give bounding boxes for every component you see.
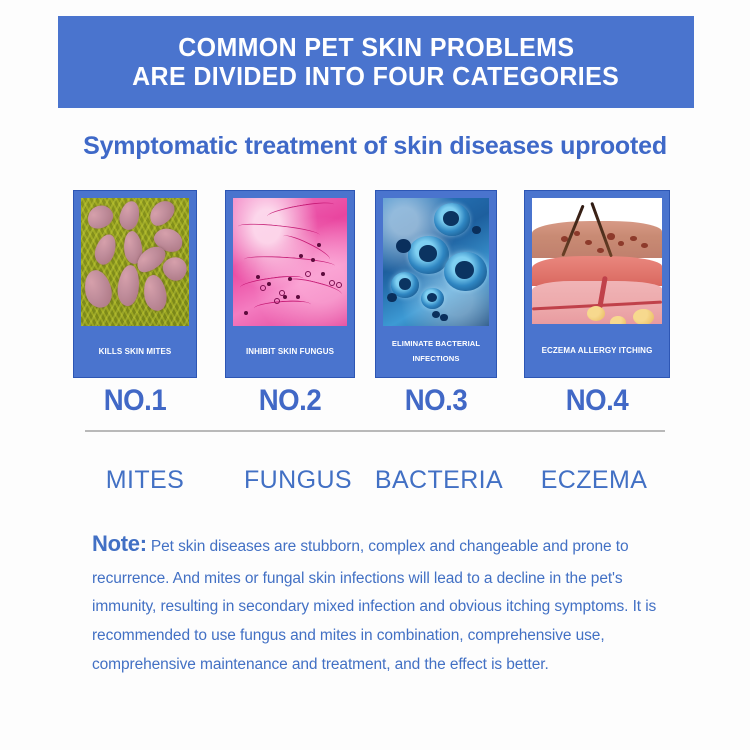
category-card-eczema[interactable]: ECZEMA ALLERGY ITCHING (524, 190, 670, 378)
category-card-fungus[interactable]: INHIBIT SKIN FUNGUS (225, 190, 355, 378)
bacteria-artwork (383, 198, 489, 326)
mites-artwork (81, 198, 189, 326)
number-row: NO.1 NO.2 NO.3 NO.4 (73, 384, 673, 418)
header-banner: COMMON PET SKIN PROBLEMS ARE DIVIDED INT… (58, 16, 694, 108)
infographic-page: COMMON PET SKIN PROBLEMS ARE DIVIDED INT… (0, 0, 750, 750)
fungus-microscopy-image (233, 198, 347, 326)
note-block: Note: Pet skin diseases are stubborn, co… (92, 524, 684, 679)
header-title-line-1: COMMON PET SKIN PROBLEMS (178, 33, 574, 62)
card-caption-fungus: INHIBIT SKIN FUNGUS (242, 326, 338, 377)
skin-cross-section-illustration (532, 198, 662, 324)
mites-microscopy-image (81, 198, 189, 326)
category-name-mites: MITES (83, 466, 207, 495)
category-card-bacteria[interactable]: ELIMINATE BACTERIAL INFECTIONS (375, 190, 497, 378)
category-card-row: KILLS SKIN MITES (73, 190, 673, 378)
card-caption-bacteria: ELIMINATE BACTERIAL INFECTIONS (376, 326, 496, 377)
header-title-line-2: ARE DIVIDED INTO FOUR CATEGORIES (132, 62, 619, 91)
card-caption-mites: KILLS SKIN MITES (95, 326, 176, 377)
category-name-eczema: ECZEMA (521, 466, 667, 495)
card-caption-eczema: ECZEMA ALLERGY ITCHING (538, 324, 657, 377)
skin-artwork (532, 198, 662, 324)
subtitle: Symptomatic treatment of skin diseases u… (0, 132, 750, 161)
note-label: Note: (92, 531, 147, 556)
number-label-1: NO.1 (78, 384, 192, 418)
category-name-row: MITES FUNGUS BACTERIA ECZEMA (73, 466, 683, 498)
number-label-4: NO.4 (530, 384, 664, 418)
bacteria-microscopy-image (383, 198, 489, 326)
category-name-fungus: FUNGUS (233, 466, 363, 495)
number-label-2: NO.2 (230, 384, 350, 418)
fungus-artwork (233, 198, 347, 326)
category-name-bacteria: BACTERIA (373, 466, 505, 495)
number-label-3: NO.3 (380, 384, 492, 418)
category-card-mites[interactable]: KILLS SKIN MITES (73, 190, 197, 378)
note-body: Pet skin diseases are stubborn, complex … (92, 538, 656, 673)
horizontal-divider (85, 430, 665, 432)
